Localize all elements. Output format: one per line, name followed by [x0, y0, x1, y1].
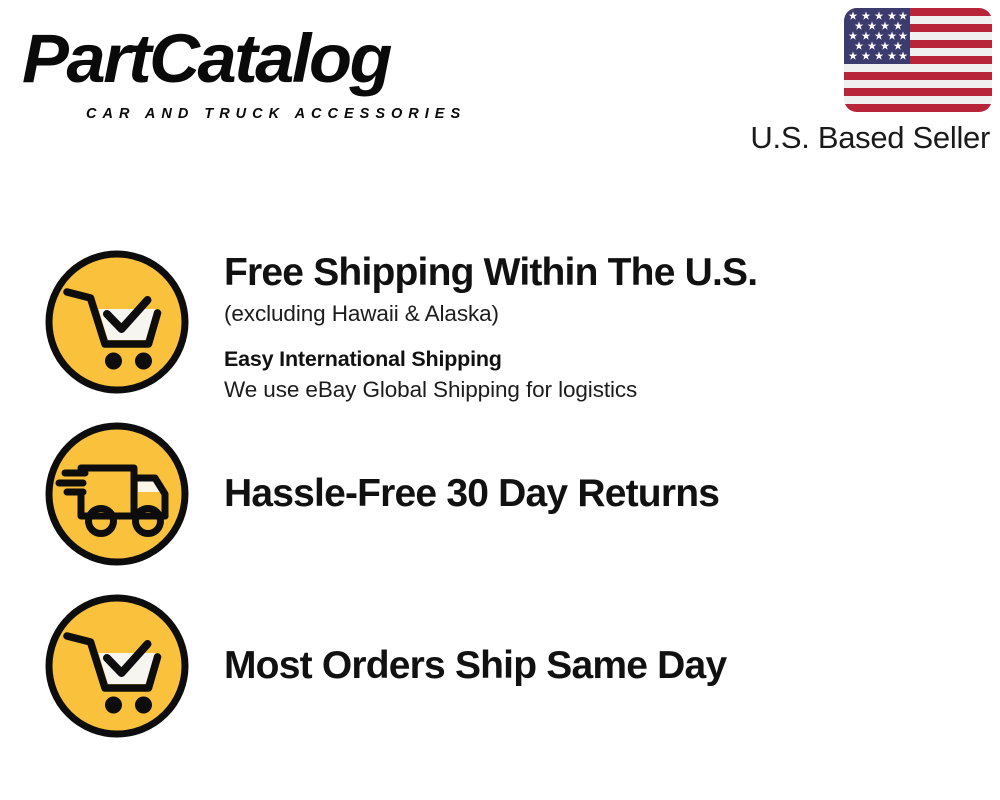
us-flag-icon	[844, 8, 992, 112]
feature-subtitle: (excluding Hawaii & Alaska)	[224, 299, 1000, 329]
feature-subtitle-light: We use eBay Global Shipping for logistic…	[224, 375, 1000, 405]
feature-text-block: Free Shipping Within The U.S. (excluding…	[224, 248, 1000, 405]
delivery-truck-icon	[43, 420, 191, 568]
shopping-cart-check-icon	[43, 592, 191, 740]
feature-title: Most Orders Ship Same Day	[224, 643, 1000, 689]
feature-title: Free Shipping Within The U.S.	[224, 250, 1000, 296]
feature-text-block: Hassle-Free 30 Day Returns	[224, 471, 1000, 517]
seller-badge-label: U.S. Based Seller	[722, 120, 992, 156]
feature-title: Hassle-Free 30 Day Returns	[224, 471, 1000, 517]
banner-header: PartCatalog CAR AND TRUCK ACCESSORIES	[0, 0, 1000, 170]
brand-logo: PartCatalog CAR AND TRUCK ACCESSORIES	[22, 22, 492, 117]
feature-row: Most Orders Ship Same Day	[0, 592, 1000, 740]
seller-badge: U.S. Based Seller	[722, 8, 992, 156]
feature-subtitle-strong: Easy International Shipping	[224, 345, 1000, 373]
feature-row: Free Shipping Within The U.S. (excluding…	[0, 248, 1000, 405]
feature-text-block: Most Orders Ship Same Day	[224, 643, 1000, 689]
brand-wordmark: PartCatalog	[22, 22, 390, 96]
brand-tagline: CAR AND TRUCK ACCESSORIES	[86, 106, 466, 122]
feature-row: Hassle-Free 30 Day Returns	[0, 420, 1000, 568]
shopping-cart-check-icon	[43, 248, 191, 396]
promo-banner: PartCatalog CAR AND TRUCK ACCESSORIES	[0, 0, 1000, 800]
